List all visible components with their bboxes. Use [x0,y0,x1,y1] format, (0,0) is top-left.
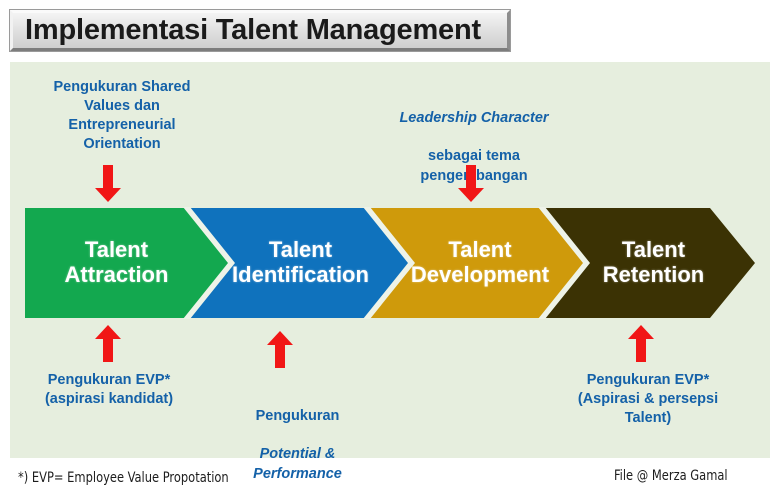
slide-title-box: Implementasi Talent Management [10,10,510,51]
annotation-evp-kandidat: Pengukuran EVP* (aspirasi kandidat) [14,371,204,409]
credit-label: File @ Merza Gamal [614,468,728,484]
annotation-potential-performance-rest: Pengukuran [256,408,340,424]
footnote-evp: *) EVP= Employee Value Propotation [18,470,229,486]
process-step-label: Talent Retention [603,238,704,287]
process-step-label: Talent Identification [232,238,369,287]
annotation-leadership-character-italic: Leadership Character [399,110,548,126]
process-step-label: Talent Attraction [65,238,169,287]
process-step-label: Talent Development [411,238,549,287]
talent-process-flow: Talent Attraction Talent Identification … [25,208,755,318]
annotation-potential-performance: Pengukuran Potential & Performance [215,388,380,484]
annotation-evp-talent: Pengukuran EVP* (Aspirasi & persepsi Tal… [547,371,749,428]
annotation-shared-values: Pengukuran Shared Values dan Entrepreneu… [32,78,212,155]
page-title: Implementasi Talent Management [13,14,481,47]
annotation-potential-performance-italic: Potential & Performance [253,446,342,481]
